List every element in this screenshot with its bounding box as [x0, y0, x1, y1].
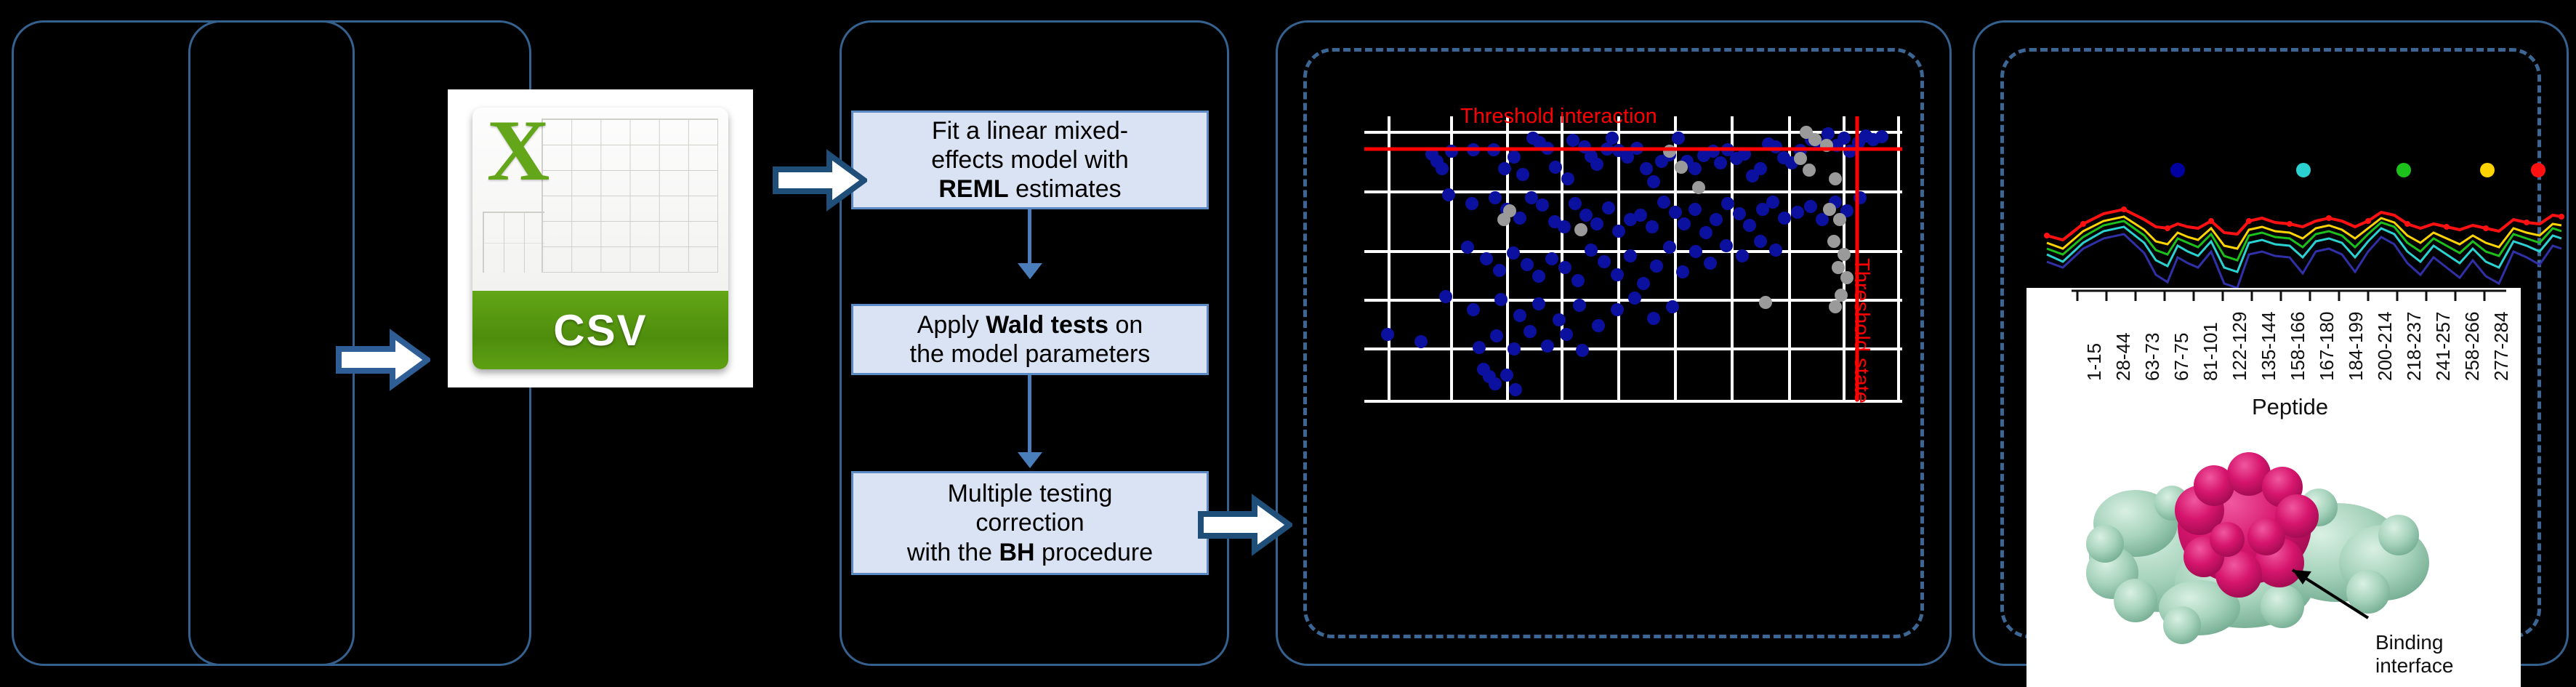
peptide-tick-4: 81-101	[2199, 322, 2222, 381]
csv-icon-body: X CSV	[472, 108, 729, 370]
legend-dot-1	[2170, 163, 2185, 177]
step-box-wald[interactable]: Apply Wald tests onthe model parameters	[851, 304, 1209, 375]
peptide-axis: 1-15 28-44 63-73 67-75 81-101 122-129 13…	[2026, 288, 2521, 384]
step-bh-text: Multiple testingcorrectionwith the BH pr…	[907, 479, 1153, 566]
legend-dot-4	[2480, 163, 2495, 177]
peptide-line-chart	[2042, 182, 2566, 289]
peptide-tick-11: 218-237	[2403, 312, 2426, 381]
arrow-input-to-csv	[336, 329, 430, 391]
legend-dot-2	[2296, 163, 2311, 177]
arrow-model-to-scatter	[1198, 494, 1292, 556]
connector-arrow-wald	[1018, 263, 1042, 279]
peptide-tick-10: 200-214	[2374, 312, 2396, 381]
csv-sheet-area: X	[472, 108, 729, 292]
peptide-tick-1: 28-44	[2112, 333, 2135, 382]
peptide-tick-3: 67-75	[2170, 333, 2193, 382]
peptide-tick-13: 258-266	[2461, 312, 2484, 381]
peptide-tick-0: 1-15	[2083, 343, 2106, 381]
excel-x-letter: X	[480, 109, 557, 212]
connector-reml-wald	[1028, 209, 1031, 266]
step-reml-text: Fit a linear mixed-effects model withREM…	[931, 116, 1129, 204]
csv-grid-large	[542, 118, 718, 273]
threshold-interaction-label: Threshold interaction	[1460, 105, 1657, 129]
connector-arrow-bh	[1018, 452, 1042, 468]
peptide-axis-ticks	[2026, 288, 2521, 304]
arrow-csv-to-model	[773, 149, 867, 212]
peptide-tick-2: 63-73	[2141, 333, 2164, 382]
step-wald-text: Apply Wald tests onthe model parameters	[910, 310, 1151, 369]
scatter-plot-svg	[1364, 116, 1902, 451]
peptide-tick-14: 277-284	[2490, 312, 2513, 381]
peptide-tick-8: 167-180	[2316, 312, 2338, 381]
csv-grid-small	[483, 212, 545, 273]
binding-interface-line1: Binding	[2375, 631, 2443, 654]
peptide-tick-12: 241-257	[2432, 312, 2455, 381]
peptide-structure-figure: 1-15 28-44 63-73 67-75 81-101 122-129 13…	[2026, 288, 2521, 687]
peptide-tick-7: 158-166	[2287, 312, 2309, 381]
legend-dot-3	[2396, 163, 2411, 177]
legend-dot-5	[2531, 163, 2545, 177]
threshold-state-label: Threshold state	[1849, 258, 1873, 403]
peptide-tick-6: 135-144	[2258, 312, 2280, 381]
csv-label-band: CSV	[472, 291, 729, 369]
peptide-tick-9: 184-199	[2345, 312, 2367, 381]
peptide-line-chart-svg	[2042, 182, 2566, 289]
step-box-bh[interactable]: Multiple testingcorrectionwith the BH pr…	[851, 471, 1209, 575]
connector-wald-bh	[1028, 375, 1031, 455]
csv-label-text: CSV	[553, 305, 647, 355]
csv-file-icon[interactable]: X CSV	[448, 89, 753, 387]
binding-interface-line2: interface	[2375, 654, 2453, 677]
step-box-reml[interactable]: Fit a linear mixed-effects model withREM…	[851, 111, 1209, 209]
binding-interface-label: Binding interface	[2375, 631, 2453, 678]
peptide-axis-title: Peptide	[2252, 394, 2328, 420]
peptide-tick-5: 122-129	[2229, 312, 2251, 381]
volcano-scatter-plot: Threshold interaction	[1364, 116, 1902, 451]
